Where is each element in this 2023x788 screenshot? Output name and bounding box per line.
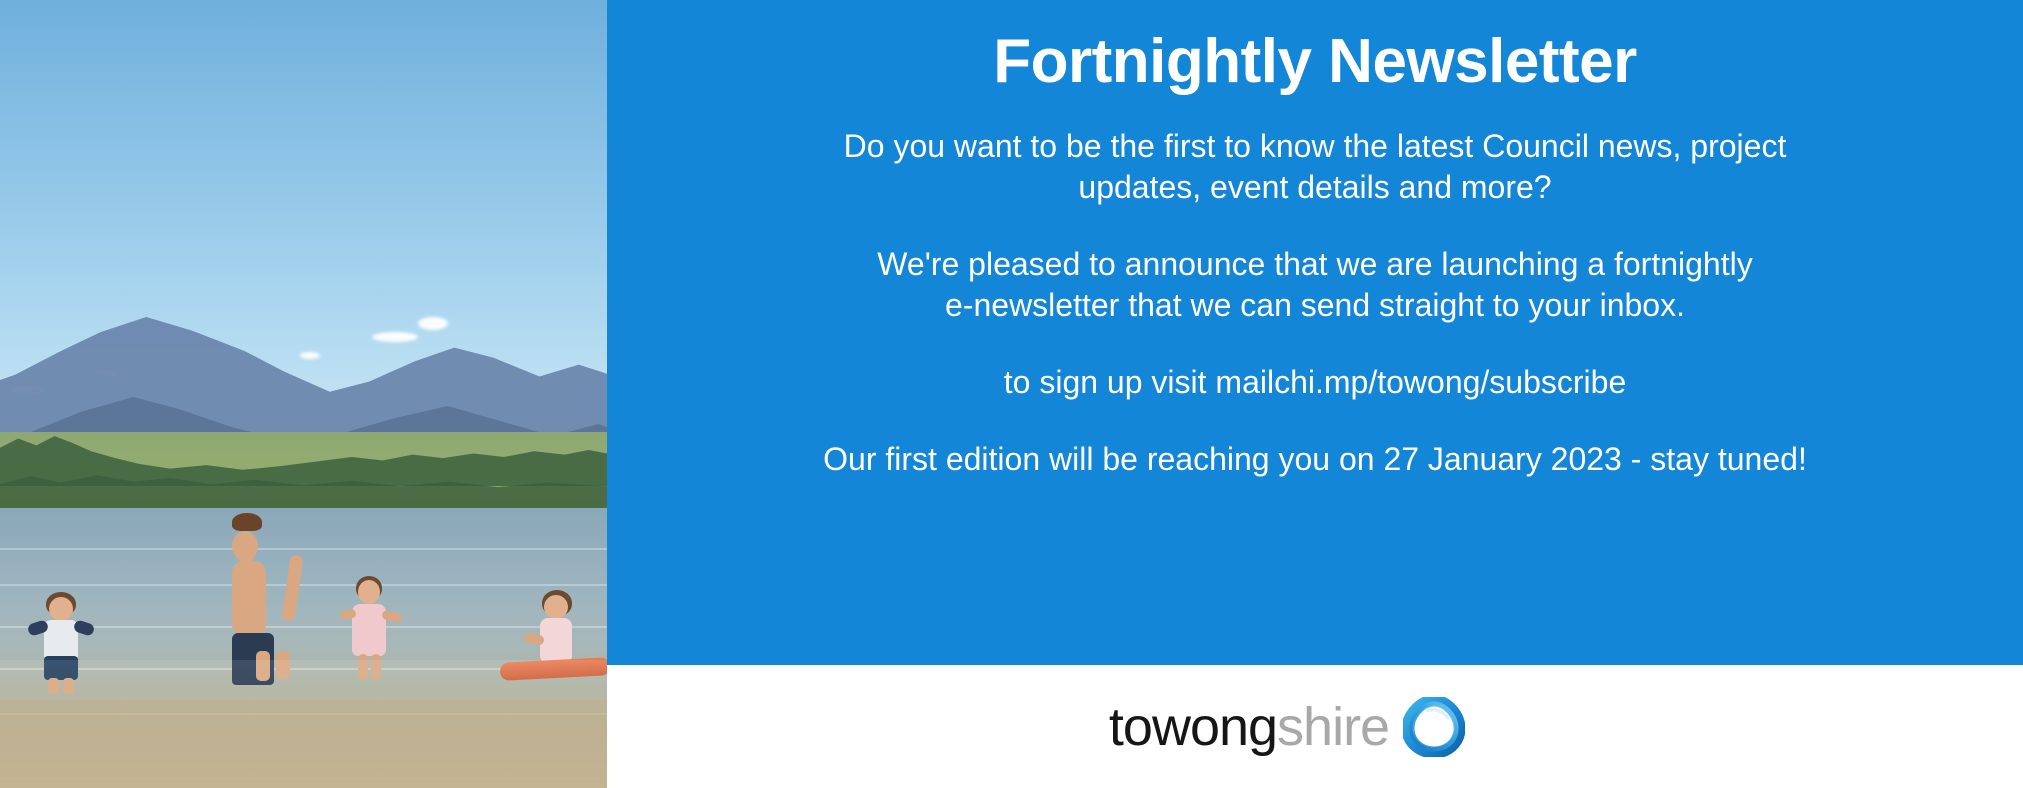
text-line: Do you want to be the first to know the … bbox=[647, 126, 1983, 167]
swim-trunks bbox=[44, 656, 78, 680]
leg-right bbox=[371, 654, 381, 680]
page-title: Fortnightly Newsletter bbox=[647, 0, 1983, 96]
leg-right bbox=[63, 678, 74, 694]
figure-child-pink bbox=[338, 576, 400, 686]
head bbox=[49, 597, 73, 621]
signup-url-line[interactable]: to sign up visit mailchi.mp/towong/subsc… bbox=[647, 362, 1983, 403]
content-panel: Fortnightly Newsletter Do you want to be… bbox=[607, 0, 2023, 665]
cloud bbox=[372, 332, 418, 342]
figure-child-boy bbox=[22, 592, 100, 692]
swim-top bbox=[540, 618, 572, 662]
text-line: We're pleased to announce that we are la… bbox=[647, 244, 1983, 285]
body-copy: Do you want to be the first to know the … bbox=[647, 96, 1983, 480]
newsletter-banner: Fortnightly Newsletter Do you want to be… bbox=[0, 0, 2023, 788]
logo-word-towong: towong bbox=[1109, 697, 1277, 757]
paragraph-announcement: We're pleased to announce that we are la… bbox=[647, 244, 1983, 326]
cloud bbox=[418, 317, 448, 330]
towong-shire-logo[interactable]: towongshire bbox=[1109, 697, 1465, 757]
text-line: e-newsletter that we can send straight t… bbox=[647, 285, 1983, 326]
hair bbox=[232, 513, 262, 531]
footer-bar: towongshire bbox=[607, 665, 2023, 788]
paragraph-first-edition: Our first edition will be reaching you o… bbox=[647, 439, 1983, 480]
leg-left bbox=[256, 651, 270, 681]
dress bbox=[352, 604, 386, 656]
cloud bbox=[300, 352, 320, 359]
leg-right bbox=[276, 651, 290, 679]
hero-photo bbox=[0, 0, 607, 788]
logo-word-shire: shire bbox=[1277, 697, 1389, 757]
arm-left bbox=[240, 553, 253, 615]
head bbox=[358, 580, 380, 604]
rash-shirt bbox=[44, 620, 78, 660]
arm-right bbox=[281, 554, 303, 621]
leg-left bbox=[358, 654, 368, 680]
head bbox=[544, 595, 568, 619]
shallow-shore bbox=[0, 700, 607, 788]
leg-left bbox=[48, 678, 59, 694]
text-line: Our first edition will be reaching you o… bbox=[647, 439, 1983, 480]
towong-swoosh-icon bbox=[1403, 697, 1465, 757]
paragraph-intro: Do you want to be the first to know the … bbox=[647, 126, 1983, 208]
text-line: updates, event details and more? bbox=[647, 167, 1983, 208]
paragraph-signup: to sign up visit mailchi.mp/towong/subsc… bbox=[647, 362, 1983, 403]
figure-adult bbox=[232, 513, 314, 681]
logo-wordmark: towongshire bbox=[1109, 700, 1389, 754]
